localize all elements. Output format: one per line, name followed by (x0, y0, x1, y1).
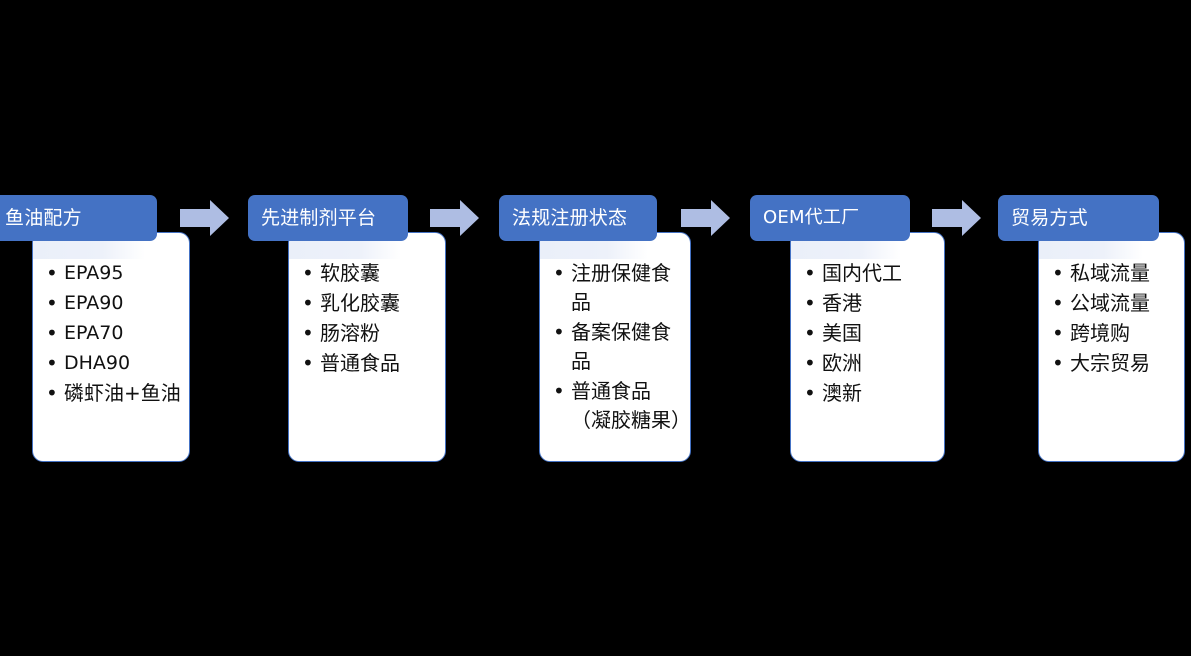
stage-title: 先进制剂平台 (248, 207, 376, 229)
list-item: DHA90 (33, 349, 189, 378)
stage-bullet-list: 国内代工 香港 美国 欧洲 澳新 (791, 233, 944, 408)
stage-card-fish-oil-formula: EPA95 EPA90 EPA70 DHA90 磷虾油+鱼油 (32, 232, 190, 462)
stage-header-fish-oil-formula[interactable]: 鱼油配方 (0, 195, 157, 241)
list-item: 私域流量 (1039, 259, 1184, 288)
stage-title: 贸易方式 (998, 207, 1088, 229)
list-item: 乳化胶囊 (289, 289, 445, 318)
stage-title: 法规注册状态 (499, 207, 627, 229)
stage-title: OEM代工厂 (750, 207, 859, 229)
list-item: EPA70 (33, 319, 189, 348)
right-arrow-icon (180, 200, 229, 236)
stage-card-trade-mode: 私域流量 公域流量 跨境购 大宗贸易 (1038, 232, 1185, 462)
stage-bullet-list: 注册保健食品 备案保健食品 普通食品（凝胶糖果） (540, 233, 690, 435)
list-item: 普通食品（凝胶糖果） (540, 377, 690, 435)
list-item: 肠溶粉 (289, 319, 445, 348)
stage-header-advanced-formulation-platform[interactable]: 先进制剂平台 (248, 195, 408, 241)
list-item: EPA95 (33, 259, 189, 288)
stage-bullet-list: EPA95 EPA90 EPA70 DHA90 磷虾油+鱼油 (33, 233, 189, 408)
stage-header-oem-factory[interactable]: OEM代工厂 (750, 195, 910, 241)
list-item: 磷虾油+鱼油 (33, 379, 189, 408)
list-item: 备案保健食品 (540, 318, 690, 376)
stage-trade-mode: 贸易方式 私域流量 公域流量 跨境购 大宗贸易 (998, 0, 1191, 656)
list-item: 美国 (791, 319, 944, 348)
right-arrow-icon (681, 200, 730, 236)
right-arrow-icon (932, 200, 981, 236)
stage-title: 鱼油配方 (0, 207, 82, 229)
list-item: EPA90 (33, 289, 189, 318)
right-arrow-icon (430, 200, 479, 236)
stage-card-regulatory-registration-status: 注册保健食品 备案保健食品 普通食品（凝胶糖果） (539, 232, 691, 462)
stage-bullet-list: 私域流量 公域流量 跨境购 大宗贸易 (1039, 233, 1184, 378)
list-item: 香港 (791, 289, 944, 318)
stage-card-oem-factory: 国内代工 香港 美国 欧洲 澳新 (790, 232, 945, 462)
list-item: 欧洲 (791, 349, 944, 378)
stage-bullet-list: 软胶囊 乳化胶囊 肠溶粉 普通食品 (289, 233, 445, 378)
stage-regulatory-registration-status: 法规注册状态 注册保健食品 备案保健食品 普通食品（凝胶糖果） (499, 0, 709, 656)
list-item: 注册保健食品 (540, 259, 690, 317)
stage-oem-factory: OEM代工厂 国内代工 香港 美国 欧洲 澳新 (750, 0, 960, 656)
stage-advanced-formulation-platform: 先进制剂平台 软胶囊 乳化胶囊 肠溶粉 普通食品 (248, 0, 458, 656)
stage-fish-oil-formula: 鱼油配方 EPA95 EPA90 EPA70 DHA90 磷虾油+鱼油 (0, 0, 200, 656)
list-item: 公域流量 (1039, 289, 1184, 318)
list-item: 跨境购 (1039, 319, 1184, 348)
stage-header-regulatory-registration-status[interactable]: 法规注册状态 (499, 195, 657, 241)
list-item: 大宗贸易 (1039, 349, 1184, 378)
list-item: 软胶囊 (289, 259, 445, 288)
list-item: 普通食品 (289, 349, 445, 378)
stage-header-trade-mode[interactable]: 贸易方式 (998, 195, 1159, 241)
process-flow-diagram: 鱼油配方 EPA95 EPA90 EPA70 DHA90 磷虾油+鱼油 先进制剂… (0, 0, 1191, 656)
stage-card-advanced-formulation-platform: 软胶囊 乳化胶囊 肠溶粉 普通食品 (288, 232, 446, 462)
list-item: 澳新 (791, 379, 944, 408)
list-item: 国内代工 (791, 259, 944, 288)
